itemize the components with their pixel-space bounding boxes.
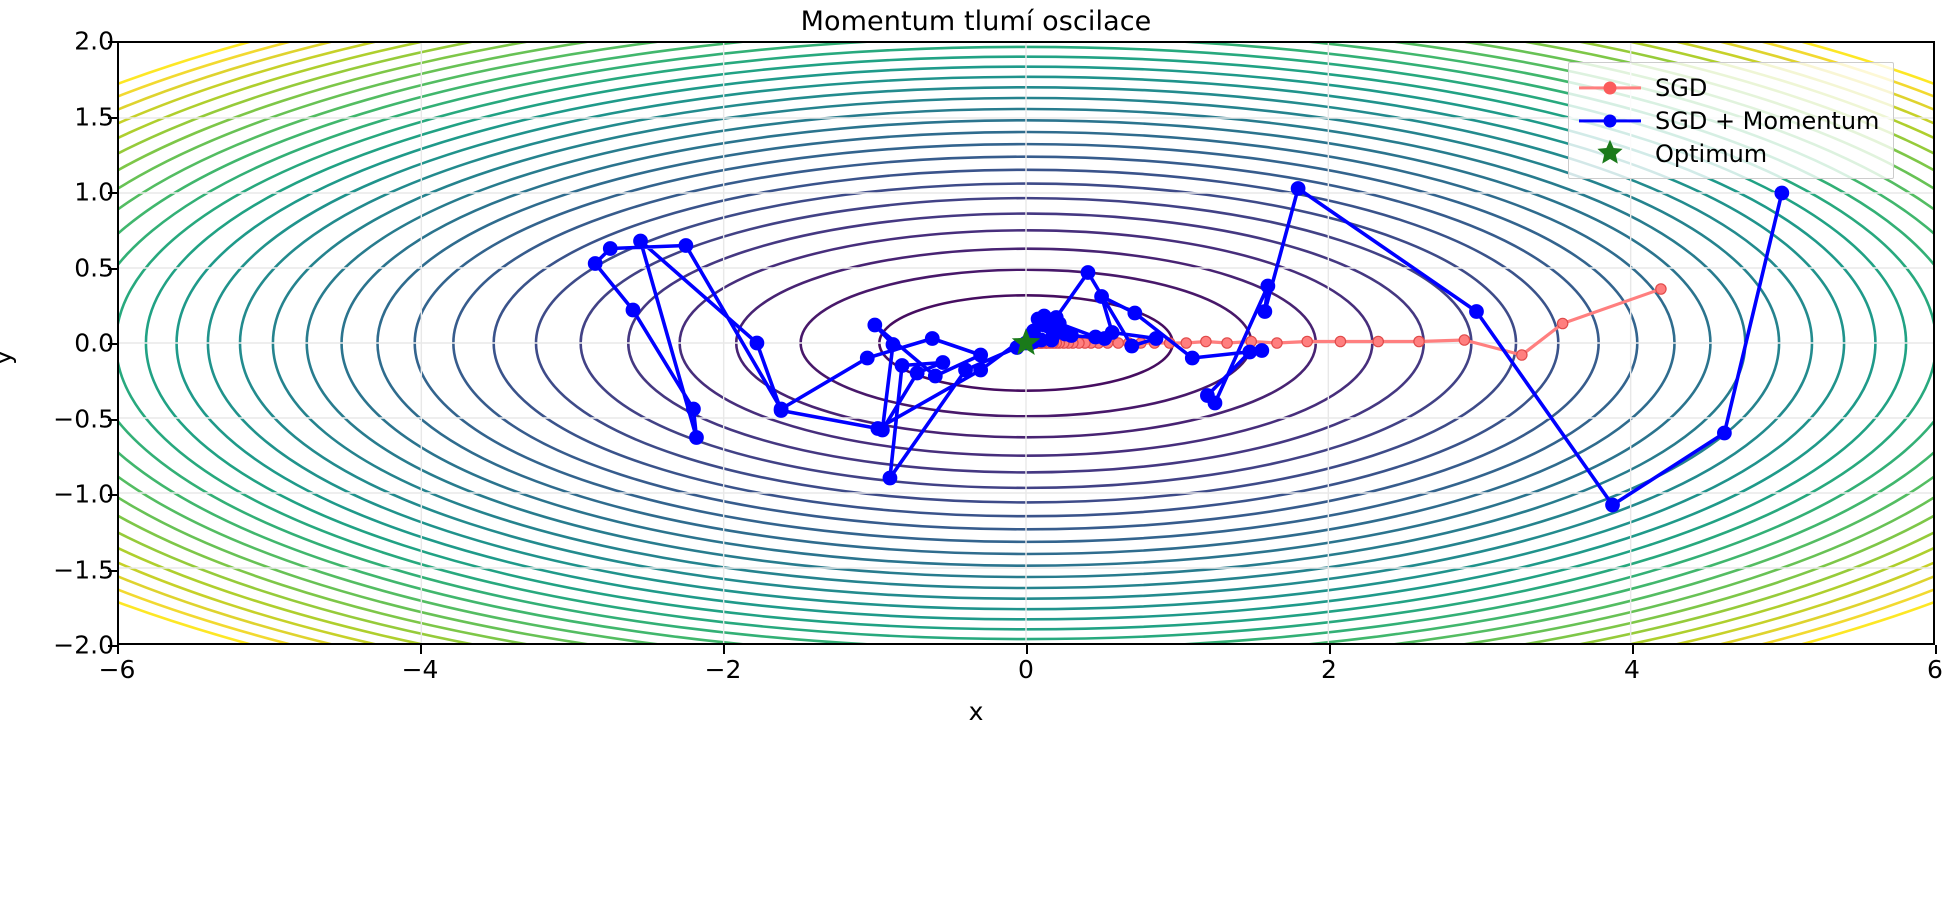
data-point <box>973 363 988 378</box>
data-point <box>1414 336 1424 346</box>
x-tick-mark <box>117 645 119 654</box>
y-tick-mark <box>108 41 117 43</box>
data-point <box>633 234 648 249</box>
data-point <box>1302 336 1312 346</box>
data-point <box>1517 350 1527 360</box>
x-axis-label: x <box>0 697 1952 726</box>
star-icon <box>1596 138 1624 170</box>
page-title: Momentum tlumí oscilace <box>0 6 1952 37</box>
legend: SGD SGD + Momentum Optimum <box>1568 62 1894 179</box>
data-point <box>910 366 925 381</box>
data-point <box>1605 498 1620 513</box>
data-point <box>1222 338 1232 348</box>
data-point <box>1717 426 1732 441</box>
data-point <box>1257 304 1272 319</box>
y-tick-label: −0.5 <box>4 404 114 433</box>
legend-swatch-momentum <box>1579 111 1641 131</box>
y-tick-label: 0.0 <box>4 329 114 358</box>
legend-label-optimum: Optimum <box>1655 140 1767 168</box>
data-point <box>1088 330 1103 345</box>
x-tick-label: −6 <box>99 655 136 684</box>
x-tick-label: −2 <box>705 655 742 684</box>
y-tick-label: −1.0 <box>4 480 114 509</box>
data-point <box>1656 284 1666 294</box>
legend-item-sgd[interactable]: SGD <box>1579 71 1879 104</box>
y-tick-label: 1.0 <box>4 178 114 207</box>
data-point <box>689 430 704 445</box>
data-point <box>867 318 882 333</box>
data-point <box>1181 338 1191 348</box>
data-point <box>1291 181 1306 196</box>
data-point <box>678 238 693 253</box>
data-point <box>1260 279 1275 294</box>
data-point <box>774 403 789 418</box>
x-tick-label: 2 <box>1321 655 1337 684</box>
data-point <box>1200 388 1215 403</box>
y-tick-label: −2.0 <box>4 631 114 660</box>
data-point <box>1254 343 1269 358</box>
data-point <box>1373 336 1383 346</box>
data-point <box>750 336 765 351</box>
sgd-trajectory <box>1028 284 1666 360</box>
data-point <box>603 241 618 256</box>
y-tick-label: 0.5 <box>4 253 114 282</box>
y-tick-label: 2.0 <box>4 27 114 56</box>
data-point <box>895 358 910 373</box>
y-tick-mark <box>108 645 117 647</box>
figure: Momentum tlumí oscilace 2.01.51.00.50.0−… <box>0 0 1952 898</box>
data-point <box>1124 339 1139 354</box>
data-point <box>1469 304 1484 319</box>
y-tick-mark <box>108 494 117 496</box>
y-tick-mark <box>108 268 117 270</box>
data-point <box>1774 186 1789 201</box>
data-point <box>935 355 950 370</box>
data-point <box>928 369 943 384</box>
x-tick-mark <box>1329 645 1331 654</box>
data-point <box>1335 336 1345 346</box>
data-point <box>1185 351 1200 366</box>
x-tick-label: 0 <box>1018 655 1034 684</box>
data-point <box>1081 265 1096 280</box>
data-point <box>1094 289 1109 304</box>
legend-label-sgd: SGD <box>1655 74 1707 102</box>
x-tick-label: −4 <box>402 655 439 684</box>
x-tick-mark <box>1026 645 1028 654</box>
data-point <box>883 471 898 486</box>
legend-swatch-sgd <box>1579 78 1641 98</box>
legend-swatch-optimum <box>1579 144 1641 164</box>
y-tick-mark <box>108 192 117 194</box>
y-tick-label: −1.5 <box>4 555 114 584</box>
legend-label-momentum: SGD + Momentum <box>1655 107 1879 135</box>
y-tick-mark <box>108 419 117 421</box>
data-point <box>925 331 940 346</box>
y-tick-mark <box>108 343 117 345</box>
data-point <box>1459 335 1469 345</box>
x-tick-mark <box>723 645 725 654</box>
x-tick-label: 6 <box>1927 655 1943 684</box>
x-tick-mark <box>1935 645 1937 654</box>
y-tick-label: 1.5 <box>4 102 114 131</box>
x-tick-mark <box>1632 645 1634 654</box>
legend-item-momentum[interactable]: SGD + Momentum <box>1579 104 1879 137</box>
data-point <box>973 348 988 363</box>
y-axis-label: y <box>0 350 17 365</box>
data-point <box>860 351 875 366</box>
data-point <box>1201 336 1211 346</box>
data-point <box>1557 318 1567 328</box>
data-point <box>626 303 641 318</box>
x-tick-mark <box>420 645 422 654</box>
y-tick-mark <box>108 570 117 572</box>
data-point <box>870 421 885 436</box>
data-point <box>686 402 701 417</box>
data-point <box>958 363 973 378</box>
x-tick-label: 4 <box>1624 655 1640 684</box>
data-point <box>1127 306 1142 321</box>
data-point <box>1149 331 1164 346</box>
legend-item-optimum[interactable]: Optimum <box>1579 137 1879 170</box>
data-point <box>1272 338 1282 348</box>
data-point <box>886 337 901 352</box>
y-tick-mark <box>108 117 117 119</box>
data-point <box>588 256 603 271</box>
